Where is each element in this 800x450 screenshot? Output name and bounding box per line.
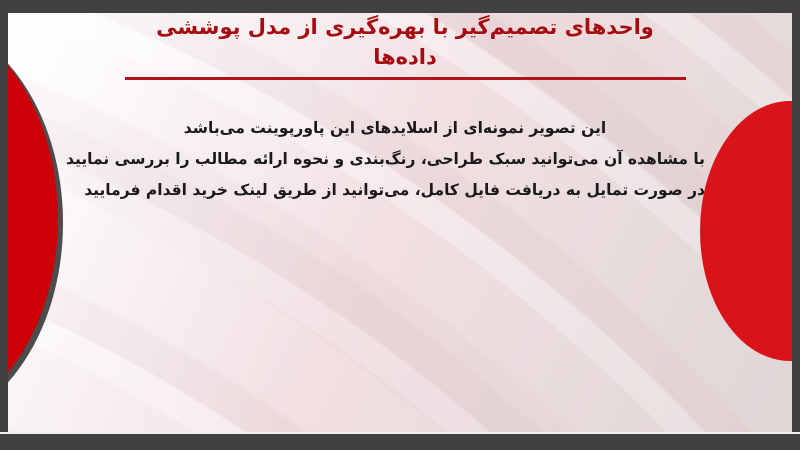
background-sheen bbox=[8, 13, 792, 432]
frame-bar-right bbox=[792, 0, 800, 450]
title-line-2: واحدهای تصمیم‌گیر با بهره‌گیری از مدل پو… bbox=[120, 12, 690, 42]
frame-bar-top bbox=[0, 0, 800, 13]
slide: کامل تحلیل حساسیت در تعیین محدوده عملکرد… bbox=[0, 0, 800, 450]
frame-bar-left bbox=[0, 0, 8, 450]
slide-body: این تصویر نمونه‌ای از اسلایدهای این پاور… bbox=[85, 113, 705, 206]
body-line-3: در صورت تمایل به دریافت فایل کامل، می‌تو… bbox=[85, 175, 705, 206]
frame-hairline bbox=[0, 432, 800, 434]
title-line-3: داده‌ها bbox=[120, 42, 690, 72]
slide-canvas bbox=[8, 13, 792, 432]
frame-bar-bottom bbox=[0, 434, 800, 450]
title-divider bbox=[125, 77, 686, 80]
body-line-2: با مشاهده آن می‌توانید سبک طراحی، رنگ‌بن… bbox=[85, 144, 705, 175]
body-line-1: این تصویر نمونه‌ای از اسلایدهای این پاور… bbox=[85, 113, 705, 144]
